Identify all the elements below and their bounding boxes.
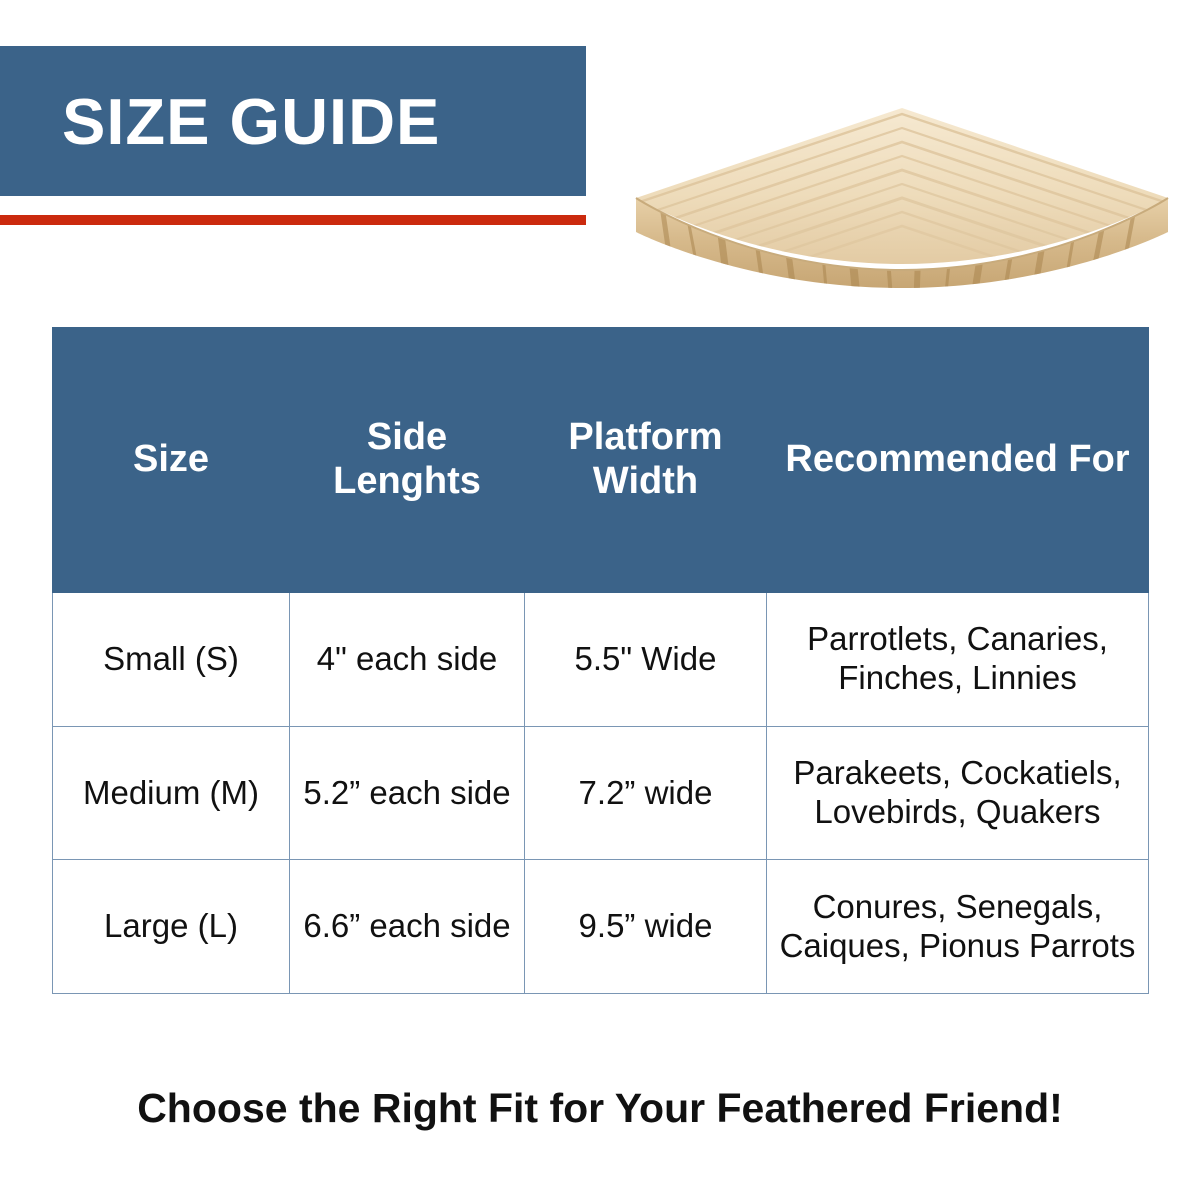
cell-platform-width: 5.5" Wide — [525, 593, 767, 727]
cell-side-lengths: 4" each side — [290, 593, 525, 727]
size-guide-table: Size Side Lenghts Platform Width Recomme… — [52, 327, 1149, 994]
table-body: Small (S) 4" each side 5.5" Wide Parrotl… — [53, 593, 1149, 994]
cell-recommended-for: Parrotlets, Canaries, Finches, Linnies — [767, 593, 1149, 727]
size-guide-header-band: SIZE GUIDE — [0, 46, 586, 196]
column-header-size: Size — [53, 328, 290, 593]
cell-recommended-for: Parakeets, Cockatiels, Lovebirds, Quaker… — [767, 726, 1149, 860]
cell-platform-width: 7.2” wide — [525, 726, 767, 860]
table-row: Large (L) 6.6” each side 9.5” wide Conur… — [53, 860, 1149, 994]
cell-size: Large (L) — [53, 860, 290, 994]
wooden-corner-platform-image — [626, 92, 1178, 288]
footer-tagline: Choose the Right Fit for Your Feathered … — [0, 1085, 1200, 1132]
table-header: Size Side Lenghts Platform Width Recomme… — [53, 328, 1149, 593]
cell-size: Small (S) — [53, 593, 290, 727]
table-row: Medium (M) 5.2” each side 7.2” wide Para… — [53, 726, 1149, 860]
cell-size: Medium (M) — [53, 726, 290, 860]
cell-side-lengths: 6.6” each side — [290, 860, 525, 994]
column-header-side-lengths: Side Lenghts — [290, 328, 525, 593]
cell-platform-width: 9.5” wide — [525, 860, 767, 994]
column-header-recommended-for: Recommended For — [767, 328, 1149, 593]
column-header-platform-width: Platform Width — [525, 328, 767, 593]
table-row: Small (S) 4" each side 5.5" Wide Parrotl… — [53, 593, 1149, 727]
table-header-row: Size Side Lenghts Platform Width Recomme… — [53, 328, 1149, 593]
cell-recommended-for: Conures, Senegals, Caiques, Pionus Parro… — [767, 860, 1149, 994]
cell-side-lengths: 5.2” each side — [290, 726, 525, 860]
header-red-divider — [0, 215, 586, 225]
corner-shelf-illustration — [626, 92, 1178, 288]
page-title: SIZE GUIDE — [62, 89, 440, 154]
